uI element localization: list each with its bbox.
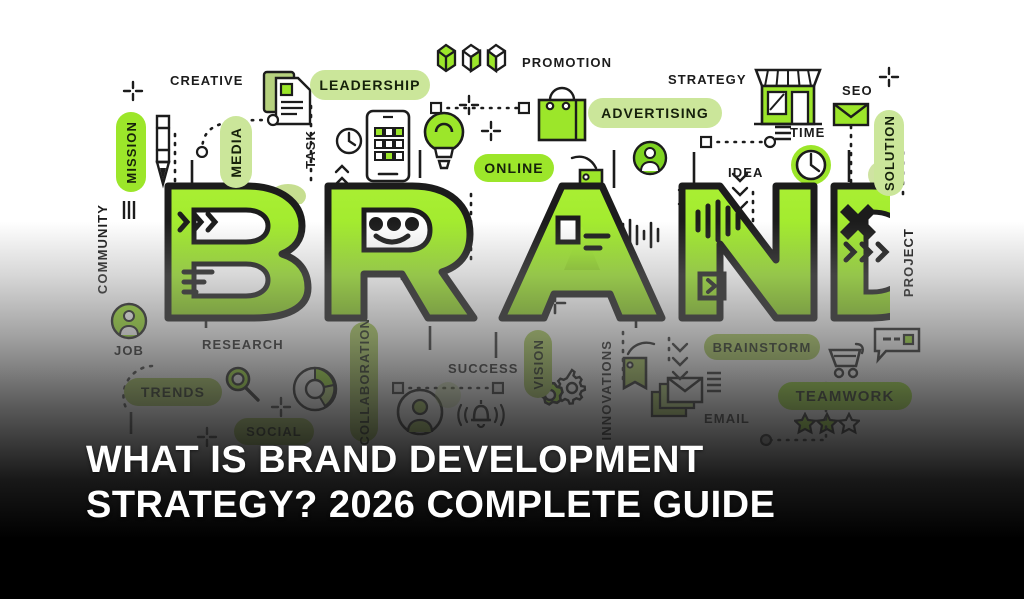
hash-marks-icon: [120, 198, 140, 222]
pill-label-teamwork[interactable]: TEAMWORK: [778, 382, 912, 410]
tick-line-icon: [127, 412, 135, 436]
text-label-time: TIME: [790, 126, 825, 139]
text-label-research: RESEARCH: [202, 338, 284, 351]
dotted-line-icon: [618, 330, 628, 386]
text-label-creative: CREATIVE: [170, 74, 244, 87]
letter-D: [834, 186, 890, 318]
pill-label-vision[interactable]: VISION: [524, 330, 552, 398]
storefront-icon: [752, 56, 824, 130]
pill-label-trends[interactable]: TRENDS: [124, 378, 222, 406]
lightbulb-icon: [420, 110, 468, 172]
text-label-seo: SEO: [842, 84, 873, 97]
dotted-connector-icon: [700, 134, 776, 150]
magnifier-icon: [222, 364, 262, 404]
plus-marks-icon: [268, 394, 294, 420]
text-label-innovations: INNOVATIONS: [600, 340, 613, 440]
shopping-cart-icon: [826, 340, 870, 382]
pill-label-collaboration[interactable]: COLLABORATION: [350, 322, 378, 442]
text-label-project: PROJECT: [902, 228, 915, 297]
text-label-job: JOB: [114, 344, 144, 357]
cube-group-icon: [434, 40, 514, 78]
infographic-banner: MISSION MEDIA LEADERSHIP ADVERTISING ONL…: [0, 0, 1024, 599]
plus-marks-icon: [876, 64, 902, 90]
pill-label-brainstorm[interactable]: BRAINSTORM: [704, 334, 820, 360]
text-label-success: SUCCESS: [448, 362, 519, 375]
shopping-bag-icon: [534, 82, 590, 144]
text-label-community: COMMUNITY: [96, 204, 109, 294]
pill-label-leadership[interactable]: LEADERSHIP: [310, 70, 430, 100]
headline: WHAT IS BRAND DEVELOPMENT STRATEGY? 2026…: [86, 438, 886, 528]
text-label-email: EMAIL: [704, 412, 750, 425]
donut-chart-icon: [292, 366, 338, 412]
pill-label-media[interactable]: MEDIA: [220, 116, 252, 188]
dotted-connector-icon: [430, 100, 530, 116]
letter-A: [502, 186, 662, 318]
headline-line-1: WHAT IS BRAND DEVELOPMENT: [86, 438, 886, 483]
pill-label-mission[interactable]: MISSION: [116, 112, 146, 192]
tick-line-icon: [492, 332, 500, 360]
smartphone-icon: [364, 108, 412, 184]
person-badge-icon: [110, 302, 148, 340]
avatar-circle-icon: [632, 140, 668, 176]
pill-label-online[interactable]: ONLINE: [474, 154, 554, 182]
plus-marks-icon: [478, 118, 504, 144]
pill-label-solution[interactable]: SOLUTION: [874, 110, 904, 196]
dot-cluster-icon: [662, 336, 676, 370]
letter-N: [682, 186, 814, 318]
plus-marks-icon: [120, 78, 146, 104]
hash-marks-icon: [704, 368, 726, 394]
dot-decoration-icon: [430, 380, 466, 410]
text-label-strategy: STRATEGY: [668, 73, 747, 86]
tick-line-icon: [426, 326, 434, 352]
headline-line-2: STRATEGY? 2026 COMPLETE GUIDE: [86, 483, 886, 528]
brand-wordart: [150, 178, 890, 323]
chat-bubble-icon: [872, 326, 922, 364]
text-label-task: TASK: [304, 130, 317, 169]
pill-label-advertising[interactable]: ADVERTISING: [588, 98, 722, 128]
tick-line-icon: [416, 150, 424, 180]
letter-B: [168, 186, 308, 318]
letter-R: [328, 186, 474, 318]
text-label-promotion: PROMOTION: [522, 56, 612, 69]
text-label-idea: IDEA: [728, 166, 763, 179]
clock-small-icon: [334, 126, 364, 156]
